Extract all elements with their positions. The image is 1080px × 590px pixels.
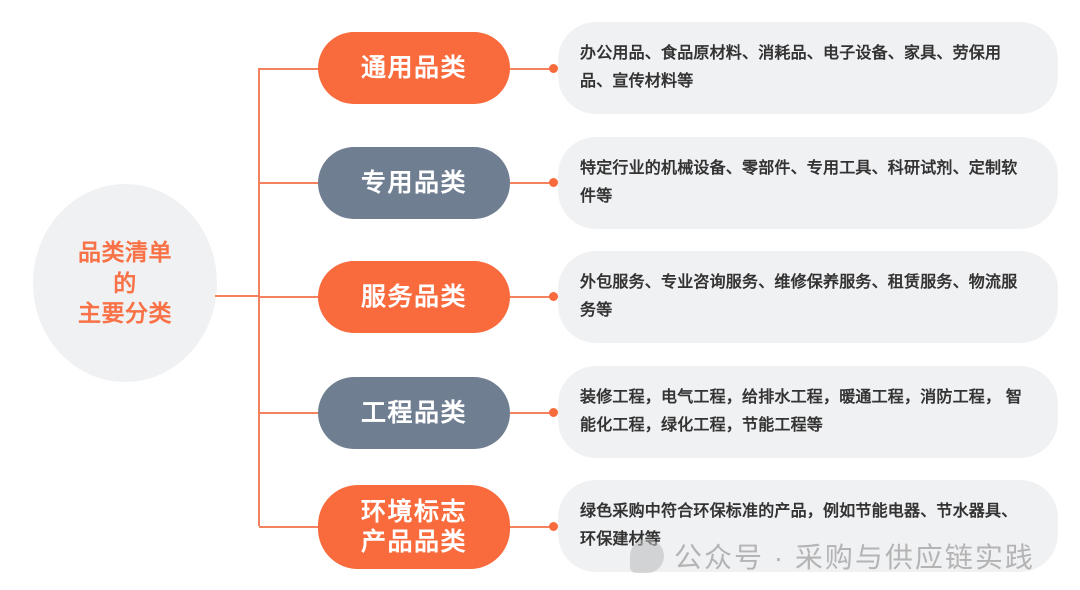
diagram-canvas: 品类清单 的 主要分类 通用品类 办公用品、食品原材料、消耗品、电子设备、家具、…: [0, 0, 1080, 590]
description-text: 装修工程，电气工程，给排水工程，暖通工程，消防工程， 智能化工程，绿化工程，节能…: [580, 384, 1030, 439]
connector-branch-5: [259, 526, 319, 528]
category-pill-engineering[interactable]: 工程品类: [318, 377, 510, 449]
description-panel-eco-label: 绿色采购中符合环保标准的产品，例如节能电器、节水器具、环保建材等: [558, 480, 1058, 572]
connector-dot-4: [549, 408, 558, 417]
connector-link-1: [510, 68, 554, 70]
category-pill-label: 环境标志 产品品类: [361, 497, 467, 557]
center-node: 品类清单 的 主要分类: [33, 184, 217, 382]
connector-dot-2: [549, 178, 558, 187]
connector-branch-1: [259, 68, 319, 70]
description-text: 绿色采购中符合环保标准的产品，例如节能电器、节水器具、环保建材等: [580, 498, 1030, 553]
connector-branch-2: [259, 182, 319, 184]
connector-link-4: [510, 412, 554, 414]
connector-dot-1: [549, 64, 558, 73]
connector-stem: [215, 295, 260, 297]
connector-branch-4: [259, 412, 319, 414]
category-pill-label: 服务品类: [361, 282, 467, 312]
connector-link-5: [510, 526, 554, 528]
category-pill-special[interactable]: 专用品类: [318, 147, 510, 219]
connector-dot-3: [549, 292, 558, 301]
category-pill-eco-label[interactable]: 环境标志 产品品类: [318, 485, 510, 569]
description-panel-general: 办公用品、食品原材料、消耗品、电子设备、家具、劳保用品、宣传材料等: [558, 22, 1058, 114]
category-pill-label: 通用品类: [361, 53, 467, 83]
description-text: 办公用品、食品原材料、消耗品、电子设备、家具、劳保用品、宣传材料等: [580, 40, 1030, 95]
description-text: 特定行业的机械设备、零部件、专用工具、科研试剂、定制软件等: [580, 155, 1030, 210]
center-node-label: 品类清单 的 主要分类: [78, 237, 172, 328]
connector-dot-5: [549, 522, 558, 531]
category-pill-service[interactable]: 服务品类: [318, 261, 510, 333]
connector-branch-3: [259, 296, 319, 298]
connector-link-3: [510, 296, 554, 298]
category-pill-general[interactable]: 通用品类: [318, 32, 510, 104]
category-pill-label: 工程品类: [361, 398, 467, 428]
description-panel-engineering: 装修工程，电气工程，给排水工程，暖通工程，消防工程， 智能化工程，绿化工程，节能…: [558, 366, 1058, 458]
category-pill-label: 专用品类: [361, 168, 467, 198]
description-panel-service: 外包服务、专业咨询服务、维修保养服务、租赁服务、物流服务等: [558, 251, 1058, 343]
description-panel-special: 特定行业的机械设备、零部件、专用工具、科研试剂、定制软件等: [558, 137, 1058, 229]
connector-link-2: [510, 182, 554, 184]
description-text: 外包服务、专业咨询服务、维修保养服务、租赁服务、物流服务等: [580, 269, 1030, 324]
